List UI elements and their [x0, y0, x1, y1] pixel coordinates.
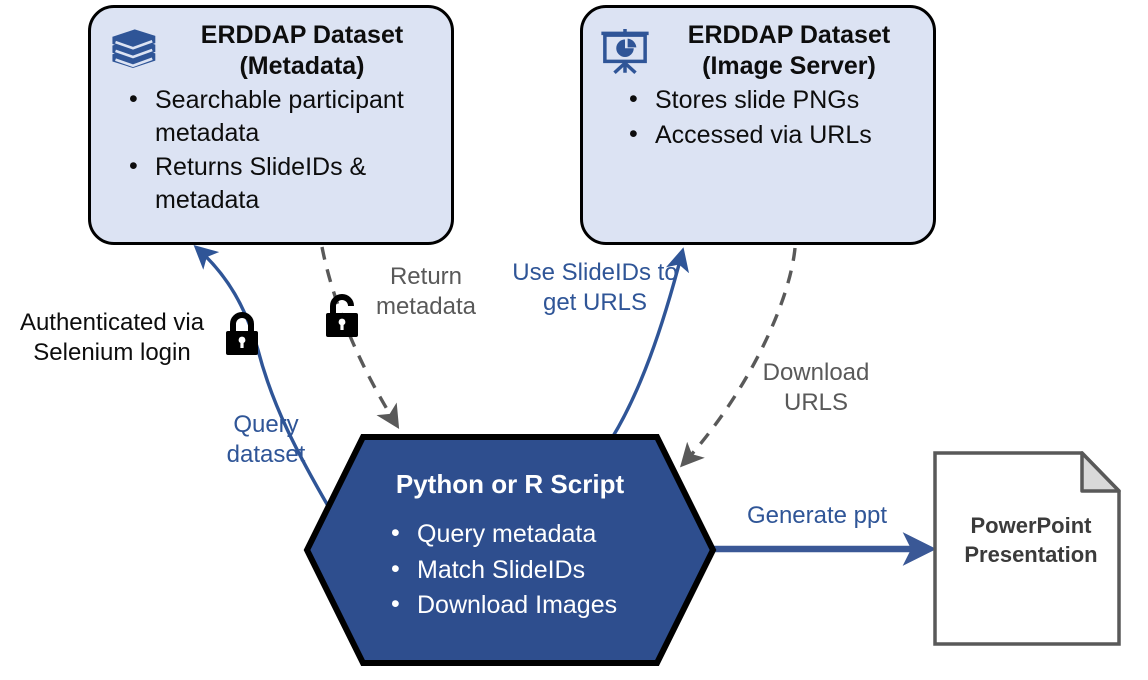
node-python-or-r-script[interactable]: Python or R Script Query metadata Match … — [303, 433, 717, 667]
list-item: Accessed via URLs — [627, 119, 919, 152]
label-auth-line2: Selenium login — [33, 339, 190, 366]
list-item: Returns SlideIDs & metadata — [127, 151, 437, 216]
label-return-metadata: Return metadata — [366, 262, 486, 322]
label-query-line2: dataset — [227, 441, 306, 468]
list-item: Query metadata — [389, 517, 617, 553]
label-useids-line1: Use SlideIDs to — [512, 259, 677, 286]
list-item: Searchable participant metadata — [127, 84, 437, 149]
image-server-title: ERDDAP Dataset (Image Server) — [655, 20, 923, 81]
image-server-bullet-list: Stores slide PNGs Accessed via URLs — [583, 84, 933, 151]
image-server-header: ERDDAP Dataset (Image Server) — [583, 8, 933, 84]
label-download-line1: Download — [763, 359, 870, 386]
label-authenticated-via-selenium: Authenticated via Selenium login — [8, 308, 216, 368]
metadata-title-line2: (Metadata) — [163, 51, 441, 82]
label-use-slideids-to-get-urls: Use SlideIDs to get URLS — [506, 258, 684, 318]
lock-open-icon — [322, 292, 362, 340]
node-erddap-image-dataset[interactable]: ERDDAP Dataset (Image Server) Stores sli… — [580, 5, 936, 245]
list-item: Download Images — [389, 588, 617, 624]
label-return-line2: metadata — [376, 293, 476, 320]
metadata-bullet-list: Searchable participant metadata Returns … — [91, 84, 451, 216]
list-item: Match SlideIDs — [389, 553, 617, 589]
label-download-line2: URLS — [784, 389, 848, 416]
label-query-line1: Query — [233, 411, 298, 438]
image-server-title-line2: (Image Server) — [655, 51, 923, 82]
metadata-header: ERDDAP Dataset (Metadata) — [91, 8, 451, 84]
script-title: Python or R Script — [303, 469, 717, 500]
label-useids-line2: get URLS — [543, 289, 647, 316]
label-genppt-text: Generate ppt — [747, 502, 887, 529]
label-return-line1: Return — [390, 263, 462, 290]
script-bullet-list: Query metadata Match SlideIDs Download I… — [389, 517, 617, 624]
presentation-chart-icon — [597, 22, 653, 78]
label-generate-ppt: Generate ppt — [738, 501, 896, 531]
lock-closed-icon — [222, 310, 262, 358]
metadata-title: ERDDAP Dataset (Metadata) — [163, 20, 441, 81]
books-icon — [105, 22, 161, 78]
powerpoint-label-line1: PowerPoint — [970, 513, 1091, 538]
node-erddap-metadata-dataset[interactable]: ERDDAP Dataset (Metadata) Searchable par… — [88, 5, 454, 245]
metadata-title-line1: ERDDAP Dataset — [201, 21, 403, 49]
powerpoint-label: PowerPoint Presentation — [948, 512, 1114, 569]
diagram-canvas: ERDDAP Dataset (Metadata) Searchable par… — [0, 0, 1148, 680]
node-powerpoint-presentation[interactable]: PowerPoint Presentation — [932, 450, 1122, 647]
label-query-dataset: Query dataset — [208, 410, 324, 470]
label-download-urls: Download URLS — [744, 358, 888, 418]
edge-download-urls — [684, 248, 795, 463]
label-auth-line1: Authenticated via — [20, 309, 204, 336]
list-item: Stores slide PNGs — [627, 84, 919, 117]
powerpoint-label-line2: Presentation — [948, 541, 1114, 570]
image-server-title-line1: ERDDAP Dataset — [688, 21, 890, 49]
